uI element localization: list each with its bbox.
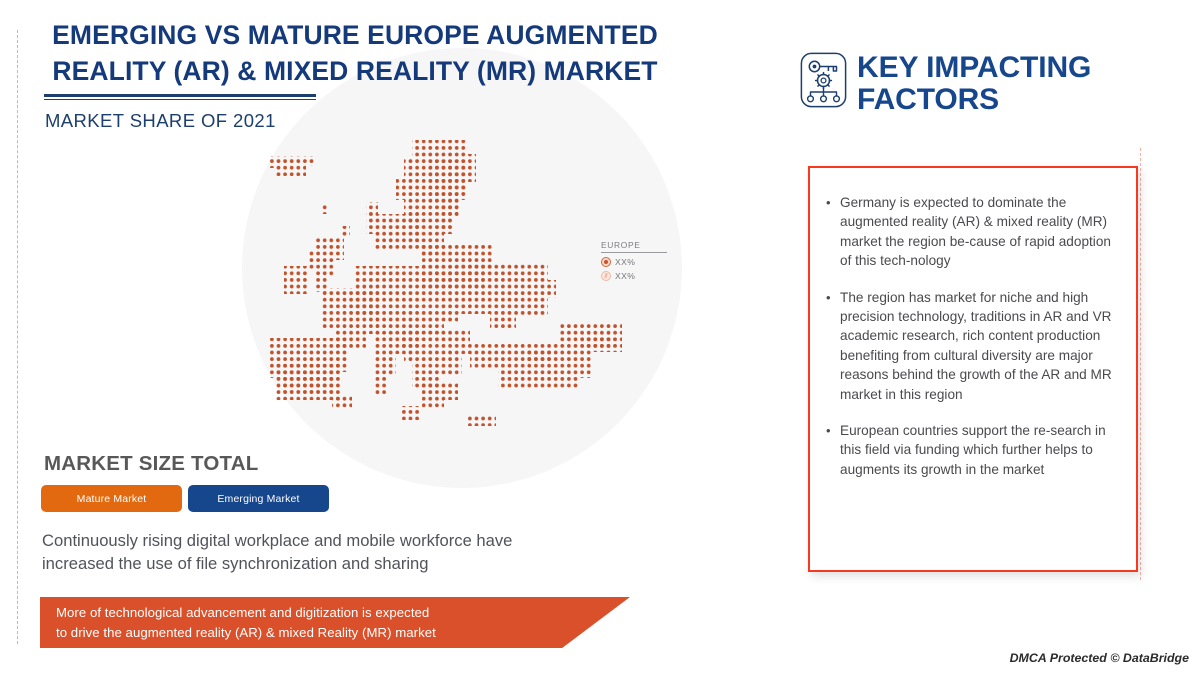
list-item-text: Germany is expected to dominate the augm…: [840, 193, 1126, 271]
legend-row: XX%: [601, 271, 679, 281]
bullet-icon: •: [826, 421, 840, 479]
list-item-text: European countries support the re-search…: [840, 421, 1126, 479]
legend-value: XX%: [615, 257, 635, 267]
divider-line-thick: [44, 94, 316, 97]
mature-market-dot-icon: [601, 257, 611, 267]
list-item: • European countries support the re-sear…: [826, 421, 1126, 479]
chip-emerging-market[interactable]: Emerging Market: [188, 485, 329, 512]
emerging-market-dot-icon: [601, 271, 611, 281]
body-paragraph: Continuously rising digital workplace an…: [42, 530, 587, 576]
legend-value: XX%: [615, 271, 635, 281]
key-factors-list: • Germany is expected to dominate the au…: [826, 193, 1126, 496]
list-item: • Germany is expected to dominate the au…: [826, 193, 1126, 271]
highlight-banner-text: More of technological advancement and di…: [40, 603, 436, 642]
legend-title: EUROPE: [601, 240, 679, 252]
europe-dot-map: [262, 138, 672, 458]
bullet-icon: •: [826, 193, 840, 271]
right-dashed-rail: [1140, 148, 1141, 580]
highlight-banner: More of technological advancement and di…: [40, 597, 630, 648]
footer-copyright: DMCA Protected © DataBridge: [1010, 651, 1189, 665]
legend-row: XX%: [601, 257, 679, 267]
title-divider: [44, 94, 316, 100]
bullet-icon: •: [826, 288, 840, 404]
title-block: EMERGING VS MATURE EUROPE AUGMENTED REAL…: [45, 18, 665, 89]
list-item-text: The region has market for niche and high…: [840, 288, 1126, 404]
key-gear-network-icon: [800, 52, 847, 108]
left-dashed-rail: [17, 30, 18, 644]
divider-line-thin: [44, 99, 316, 100]
key-impacting-factors-title: KEY IMPACTING FACTORS: [857, 52, 1157, 116]
page-title: EMERGING VS MATURE EUROPE AUGMENTED REAL…: [45, 18, 665, 89]
chip-mature-market[interactable]: Mature Market: [41, 485, 182, 512]
chip-emerging-market-label: Emerging Market: [217, 493, 299, 505]
chip-mature-market-label: Mature Market: [77, 493, 147, 505]
legend-divider: [601, 252, 667, 253]
map-legend: EUROPE XX% XX%: [601, 240, 679, 281]
infographic-canvas: EMERGING VS MATURE EUROPE AUGMENTED REAL…: [0, 0, 1200, 675]
list-item: • The region has market for niche and hi…: [826, 288, 1126, 404]
page-subtitle: MARKET SHARE OF 2021: [45, 110, 276, 132]
market-size-heading: MARKET SIZE TOTAL: [44, 452, 258, 476]
